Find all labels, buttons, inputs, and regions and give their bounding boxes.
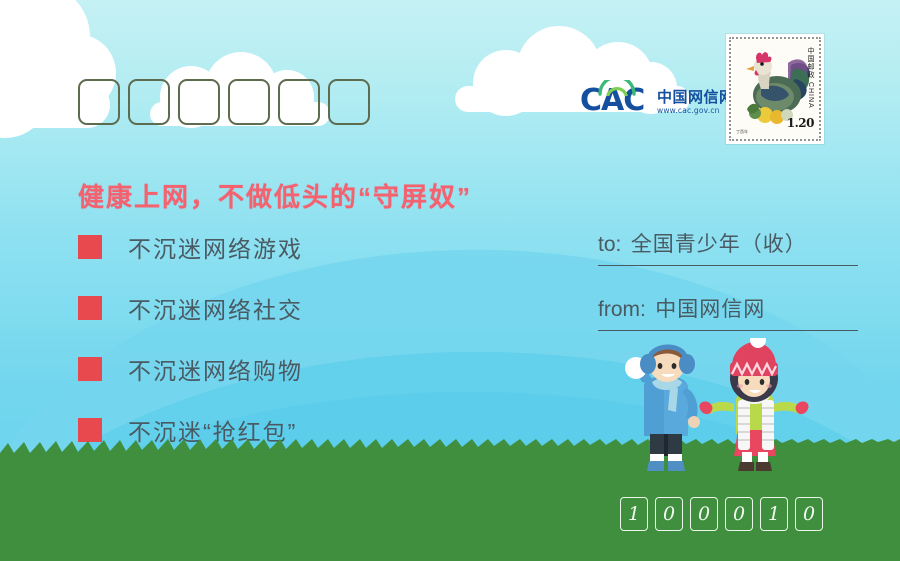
cac-text-block: 中国网信网 www.cac.gov.cn [657,87,735,116]
address-to-label: to: [598,233,621,256]
list-item-label: 不沉迷网络社交 [128,291,303,325]
list-item: 不沉迷网络购物 [78,346,498,392]
postal-digit-cell: 0 [655,497,683,531]
pledge-list: 不沉迷网络游戏 不沉迷网络社交 不沉迷网络购物 不沉迷“抢红包” [78,224,498,468]
address-from-label: from: [598,298,646,321]
bullet-square-icon [78,357,102,381]
cac-url: www.cac.gov.cn [657,106,735,116]
list-item-label: 不沉迷网络游戏 [128,230,303,264]
cac-signal-arcs-icon [597,80,637,96]
list-item-label: 不沉迷网络购物 [128,352,303,386]
cac-logo: CAC 中国网信网 www.cac.gov.cn [580,84,735,118]
postage-stamp: 中国邮政 CHINA 1.20 丁酉年 [726,34,824,144]
postal-digit-cell: 0 [725,497,753,531]
cac-chinese-name: 中国网信网 [657,89,735,106]
bullet-square-icon [78,235,102,259]
stamp-perforation-border [729,37,821,141]
postcode-box[interactable] [128,79,170,125]
postcode-box[interactable] [278,79,320,125]
postcode-box[interactable] [228,79,270,125]
address-to-line[interactable]: to: 全国青少年（收） [598,228,858,266]
girl-figure [699,338,808,471]
page-title: 健康上网，不做低头的“守屏奴” [78,177,472,214]
postcard-canvas: CAC 中国网信网 www.cac.gov.cn [0,0,900,561]
address-from-value: 中国网信网 [655,298,765,321]
postcode-box[interactable] [178,79,220,125]
recipient-postcode-boxes[interactable] [78,79,370,125]
postcode-box[interactable] [328,79,370,125]
postal-digit-cell: 1 [620,497,648,531]
bullet-square-icon [78,296,102,320]
cac-wordmark: CAC [580,84,650,118]
postal-digit-cell: 0 [795,497,823,531]
postal-digit-cell: 0 [690,497,718,531]
postcode-box[interactable] [78,79,120,125]
address-from-line[interactable]: from: 中国网信网 [598,293,858,331]
winter-kids-illustration [606,338,856,478]
kids-icon [606,338,856,478]
list-item: 不沉迷网络游戏 [78,224,498,270]
address-to-value: 全国青少年（收） [631,233,807,256]
sender-postal-code: 1 0 0 0 1 0 [620,497,823,531]
postal-digit-cell: 1 [760,497,788,531]
boy-figure [625,345,700,471]
list-item: 不沉迷网络社交 [78,285,498,331]
